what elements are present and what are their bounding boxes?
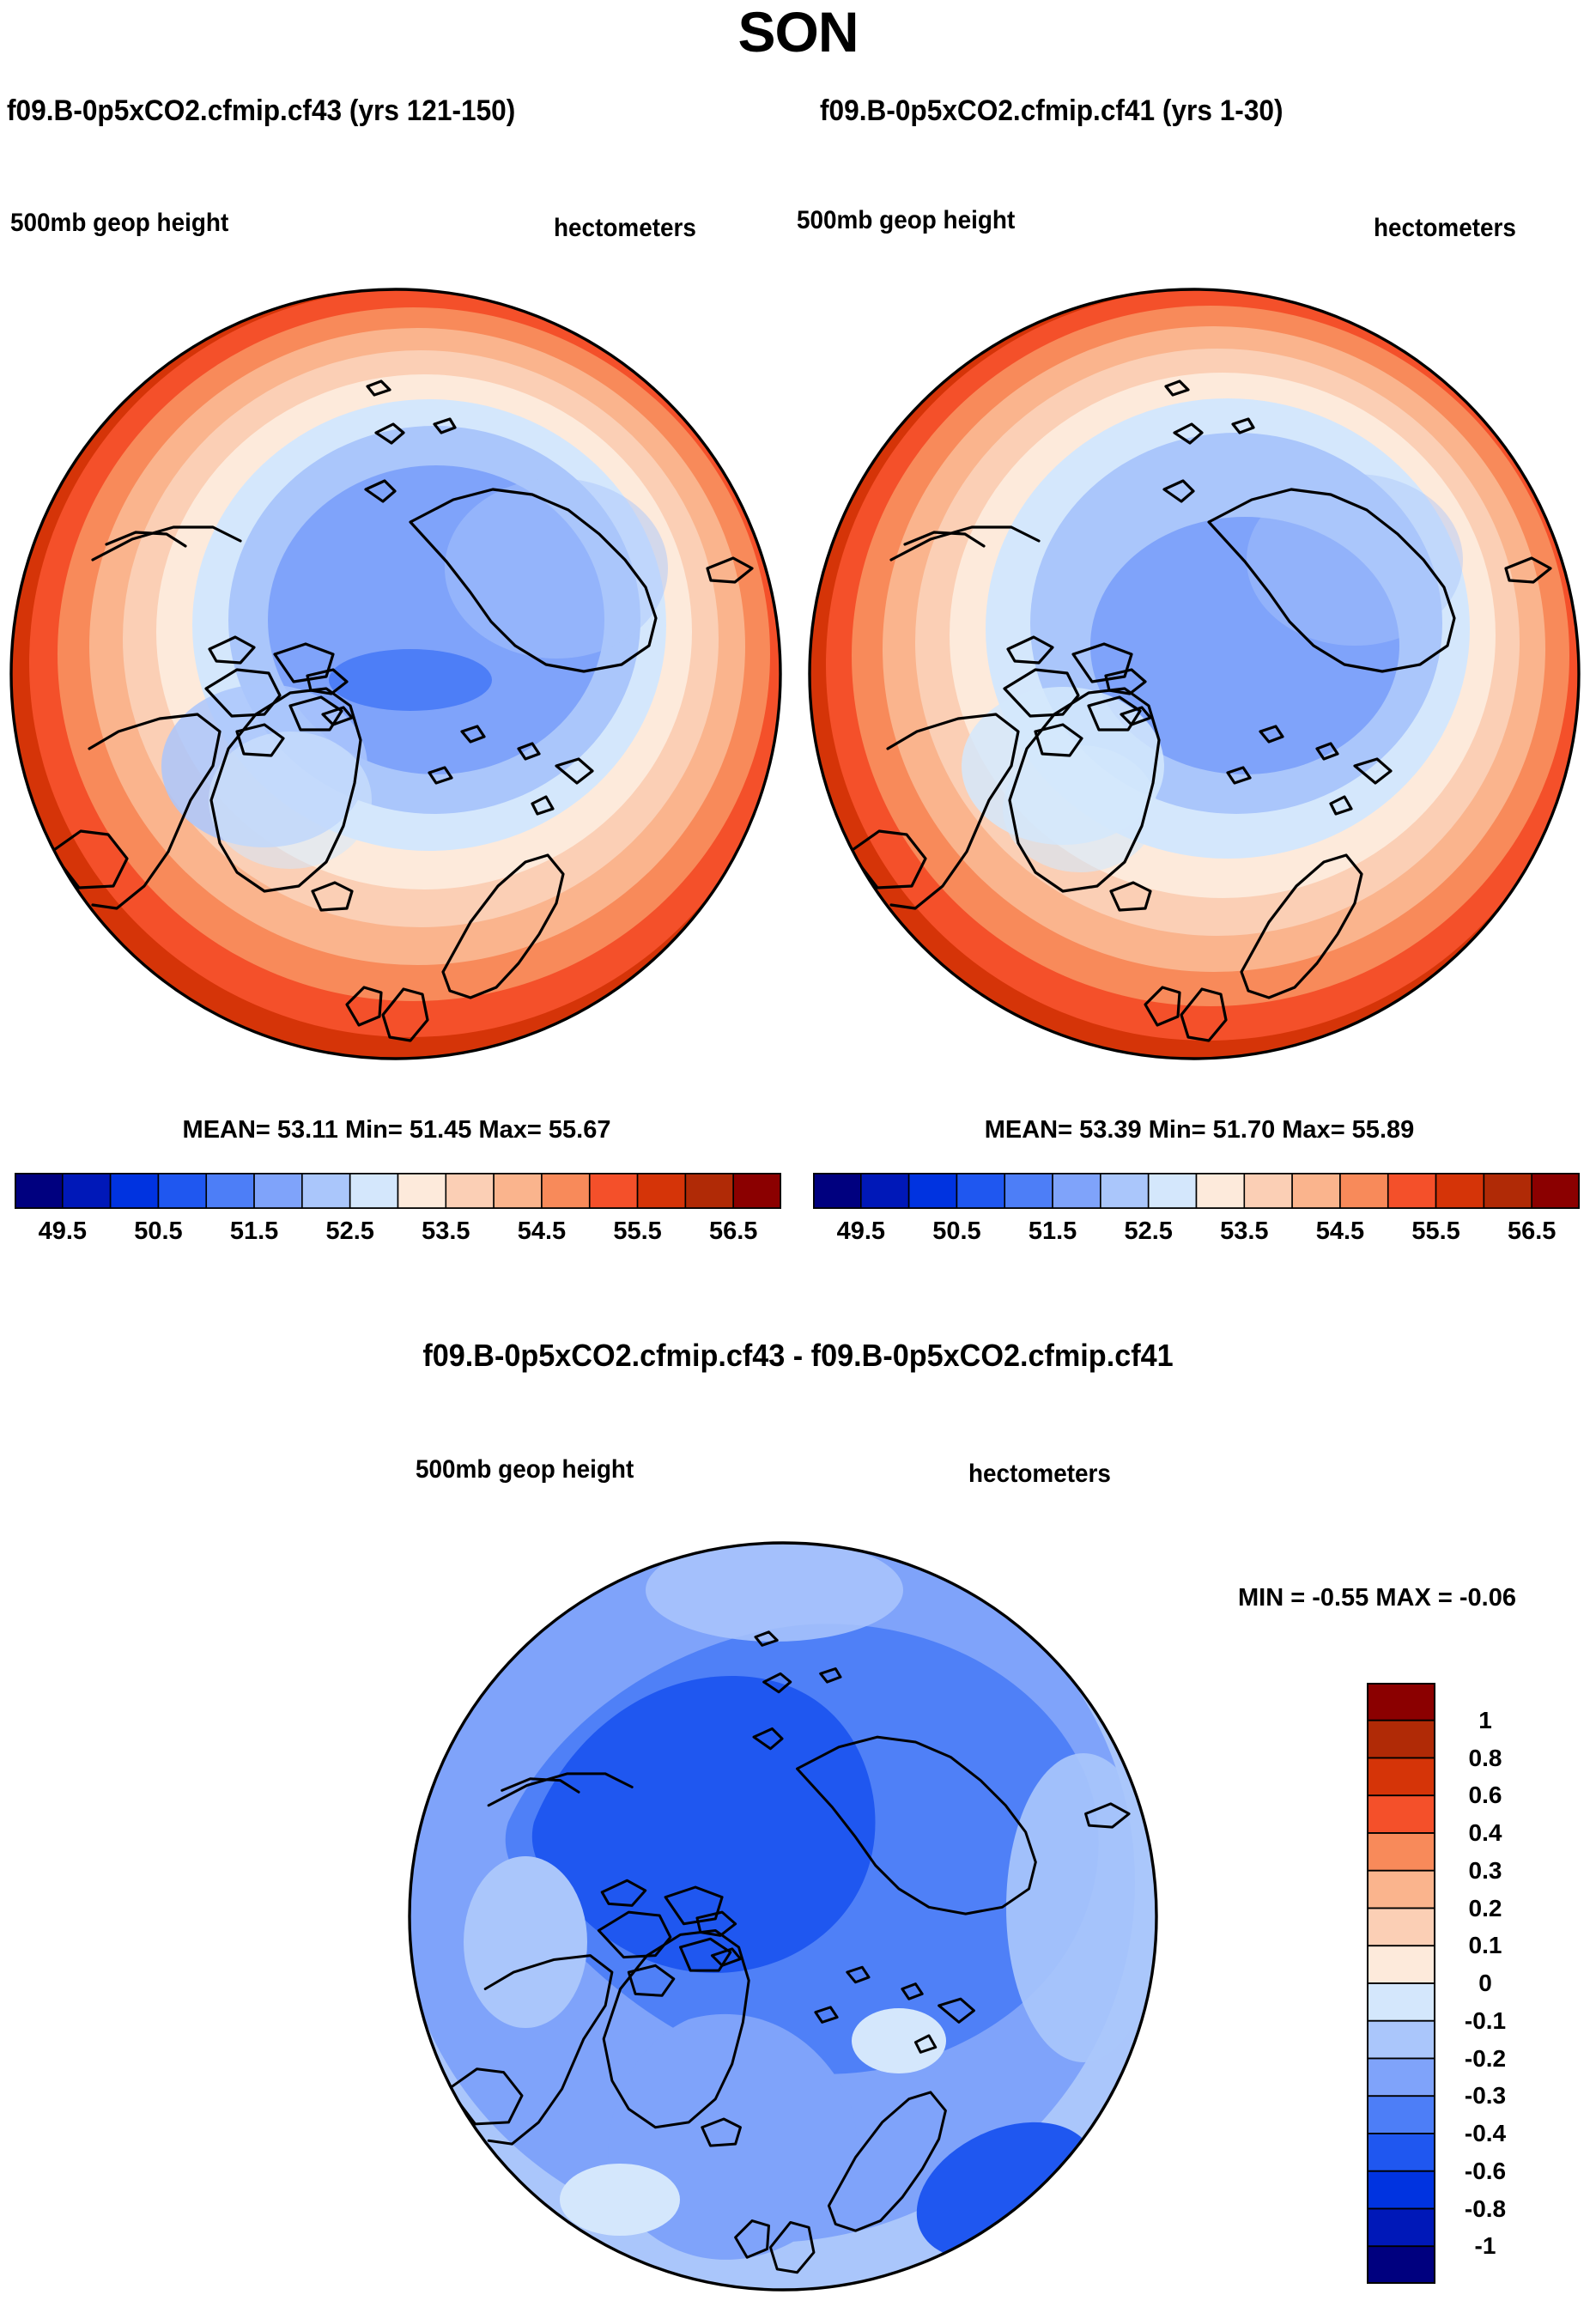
colorbar-segment bbox=[302, 1173, 350, 1209]
colorbar-segment bbox=[1197, 1173, 1245, 1209]
colorbar-segment bbox=[63, 1173, 111, 1209]
colorbar-segment bbox=[1367, 2096, 1435, 2134]
colorbar-segment bbox=[446, 1173, 494, 1209]
right-field-label: 500mb geop height bbox=[797, 206, 1015, 235]
colorbar-segment bbox=[254, 1173, 302, 1209]
left-field-label: 500mb geop height bbox=[10, 209, 228, 238]
colorbar-segment bbox=[1004, 1173, 1053, 1209]
colorbar-tick-label: 55.5 bbox=[1411, 1217, 1459, 1246]
colorbar-segment bbox=[956, 1173, 1004, 1209]
colorbar-segment bbox=[1101, 1173, 1149, 1209]
colorbar-tick-label: 0.1 bbox=[1442, 1932, 1528, 1959]
colorbar-segment bbox=[1532, 1173, 1580, 1209]
difference-colorbar-svg bbox=[1367, 1683, 1435, 2284]
colorbar-tick-label: 52.5 bbox=[1124, 1217, 1172, 1246]
colorbar-segment bbox=[15, 1173, 63, 1209]
right-units-label: hectometers bbox=[1374, 214, 1516, 243]
colorbar-tick-label: -0.2 bbox=[1442, 2045, 1528, 2073]
colorbar-tick-label: 54.5 bbox=[1316, 1217, 1364, 1246]
colorbar-segment bbox=[733, 1173, 781, 1209]
left-map-svg bbox=[7, 285, 785, 1063]
colorbar-segment bbox=[1484, 1173, 1532, 1209]
colorbar-segment bbox=[1436, 1173, 1484, 1209]
colorbar-tick-label: 49.5 bbox=[837, 1217, 885, 1246]
colorbar-tick-label: 0.6 bbox=[1442, 1782, 1528, 1809]
colorbar-segment bbox=[1367, 1758, 1435, 1796]
colorbar-segment bbox=[1367, 1795, 1435, 1833]
colorbar-segment bbox=[1367, 1833, 1435, 1871]
colorbar-tick-label: -0.6 bbox=[1442, 2158, 1528, 2185]
colorbar-tick-label: 0.2 bbox=[1442, 1895, 1528, 1922]
colorbar-tick-label: 0.3 bbox=[1442, 1857, 1528, 1885]
colorbar-segment bbox=[494, 1173, 542, 1209]
colorbar-tick-label: 51.5 bbox=[1029, 1217, 1077, 1246]
colorbar-tick-label: -0.4 bbox=[1442, 2120, 1528, 2147]
colorbar-tick-label: 53.5 bbox=[1220, 1217, 1268, 1246]
difference-field-label: 500mb geop height bbox=[416, 1455, 634, 1484]
colorbar-segment bbox=[1367, 1871, 1435, 1909]
colorbar-segment bbox=[1367, 2246, 1435, 2284]
difference-polar-map bbox=[405, 1539, 1161, 2294]
colorbar-tick-label: -0.3 bbox=[1442, 2082, 1528, 2110]
difference-title: f09.B-0p5xCO2.cfmip.cf43 - f09.B-0p5xCO2… bbox=[39, 1338, 1556, 1374]
left-colorbar bbox=[15, 1173, 781, 1209]
page-title: SON bbox=[0, 3, 1596, 60]
colorbar-segment bbox=[1367, 1683, 1435, 1721]
colorbar-segment bbox=[1340, 1173, 1388, 1209]
difference-units-label: hectometers bbox=[968, 1460, 1111, 1489]
colorbar-segment bbox=[1388, 1173, 1436, 1209]
colorbar-segment bbox=[1053, 1173, 1101, 1209]
difference-colorbar-ticks: 10.80.60.40.30.20.10-0.1-0.2-0.3-0.4-0.6… bbox=[1442, 1683, 1596, 2284]
difference-map-svg bbox=[405, 1539, 1161, 2294]
difference-minmax: MIN = -0.55 MAX = -0.06 bbox=[1238, 1584, 1516, 1612]
colorbar-segment bbox=[1367, 2021, 1435, 2059]
colorbar-segment bbox=[158, 1173, 206, 1209]
colorbar-segment bbox=[1367, 1946, 1435, 1983]
right-colorbar-svg bbox=[813, 1173, 1580, 1209]
left-stats: MEAN= 53.11 Min= 51.45 Max= 55.67 bbox=[0, 1116, 793, 1144]
colorbar-segment bbox=[1367, 2134, 1435, 2171]
right-case-label: f09.B-0p5xCO2.cfmip.cf41 (yrs 1-30) bbox=[820, 94, 1283, 128]
colorbar-segment bbox=[1367, 2171, 1435, 2209]
colorbar-tick-label: -1 bbox=[1442, 2232, 1528, 2260]
difference-colorbar bbox=[1367, 1683, 1435, 2284]
colorbar-segment bbox=[1367, 1721, 1435, 1758]
colorbar-segment bbox=[1367, 1909, 1435, 1946]
colorbar-tick-label: 0.8 bbox=[1442, 1745, 1528, 1772]
colorbar-segment bbox=[542, 1173, 590, 1209]
colorbar-segment bbox=[206, 1173, 254, 1209]
colorbar-segment bbox=[685, 1173, 733, 1209]
colorbar-segment bbox=[398, 1173, 446, 1209]
colorbar-segment bbox=[1367, 2059, 1435, 2097]
colorbar-segment bbox=[909, 1173, 957, 1209]
right-stats: MEAN= 53.39 Min= 51.70 Max= 55.89 bbox=[803, 1116, 1596, 1144]
left-polar-map bbox=[7, 285, 785, 1063]
colorbar-segment bbox=[813, 1173, 861, 1209]
colorbar-tick-label: -0.1 bbox=[1442, 2007, 1528, 2035]
colorbar-tick-label: 56.5 bbox=[1508, 1217, 1556, 1246]
colorbar-tick-label: 50.5 bbox=[932, 1217, 980, 1246]
left-case-label: f09.B-0p5xCO2.cfmip.cf43 (yrs 121-150) bbox=[7, 94, 515, 128]
colorbar-segment bbox=[1367, 1983, 1435, 2021]
colorbar-segment bbox=[638, 1173, 686, 1209]
colorbar-tick-label: 0 bbox=[1442, 1970, 1528, 1997]
right-map-svg bbox=[805, 285, 1583, 1063]
colorbar-tick-label: 0.4 bbox=[1442, 1819, 1528, 1847]
right-polar-map bbox=[805, 285, 1583, 1063]
colorbar-segment bbox=[1292, 1173, 1340, 1209]
colorbar-segment bbox=[1244, 1173, 1292, 1209]
colorbar-segment bbox=[590, 1173, 638, 1209]
colorbar-tick-label: -0.8 bbox=[1442, 2195, 1528, 2223]
colorbar-tick-label: 1 bbox=[1442, 1707, 1528, 1734]
right-colorbar-ticks: 49.550.551.552.553.554.555.556.5 bbox=[0, 1217, 1596, 1259]
colorbar-segment bbox=[111, 1173, 159, 1209]
colorbar-segment bbox=[350, 1173, 398, 1209]
left-colorbar-svg bbox=[15, 1173, 781, 1209]
right-colorbar bbox=[813, 1173, 1580, 1209]
left-units-label: hectometers bbox=[554, 214, 696, 243]
colorbar-segment bbox=[861, 1173, 909, 1209]
colorbar-segment bbox=[1367, 2209, 1435, 2247]
colorbar-segment bbox=[1149, 1173, 1197, 1209]
